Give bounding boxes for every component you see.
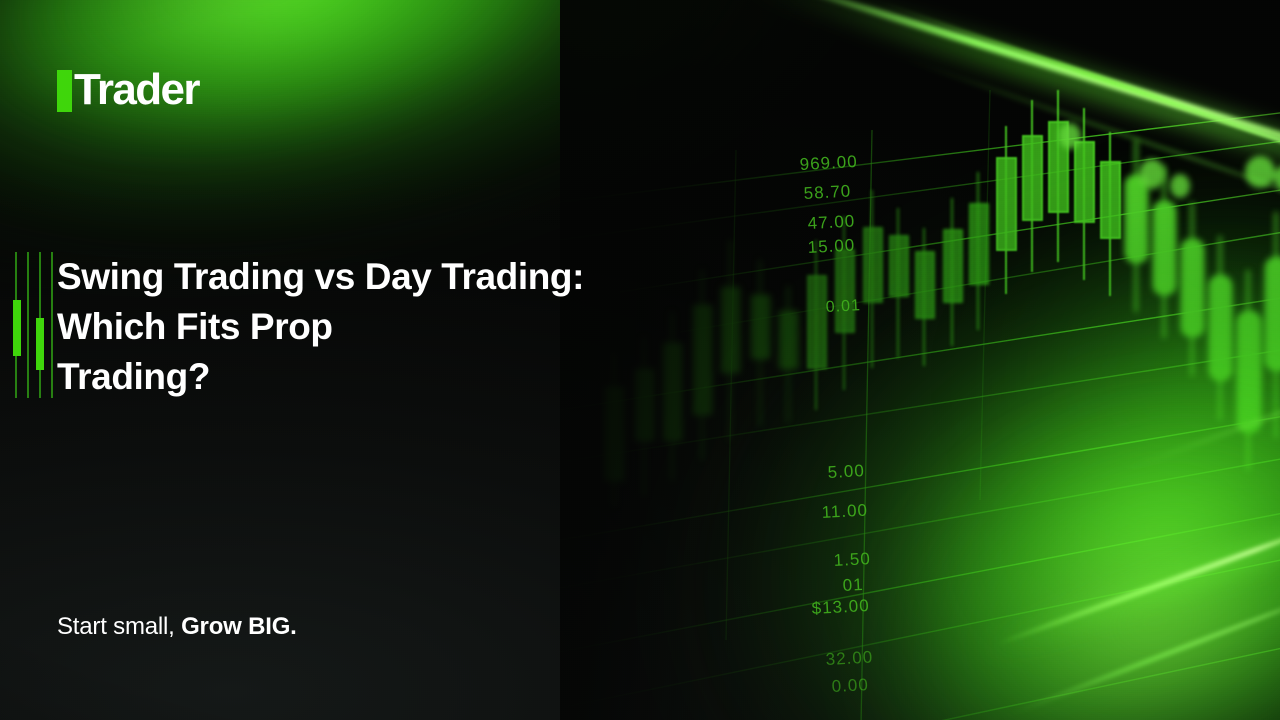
page-title: Swing Trading vs Day Trading: Which Fits… bbox=[57, 252, 757, 402]
tagline-emphasis: Grow BIG. bbox=[181, 613, 297, 640]
logo-wordmark: Trader bbox=[74, 68, 199, 112]
logo[interactable]: Trader bbox=[57, 68, 199, 112]
accent-candles bbox=[13, 252, 57, 398]
accent-candle-body-2 bbox=[36, 318, 44, 370]
tagline-lead: Start small, bbox=[57, 613, 181, 640]
accent-candle-body-1 bbox=[13, 300, 21, 356]
blog-banner: 969.00 58.70 47.00 15.00 0.01 5.00 11.00… bbox=[0, 0, 1280, 720]
logo-i-bar bbox=[57, 70, 72, 112]
accent-candles-svg bbox=[13, 252, 57, 398]
content-layer: Trader Swing Trading vs Day Trading: Whi… bbox=[0, 0, 1280, 720]
tagline: Start small, Grow BIG. bbox=[57, 613, 297, 641]
